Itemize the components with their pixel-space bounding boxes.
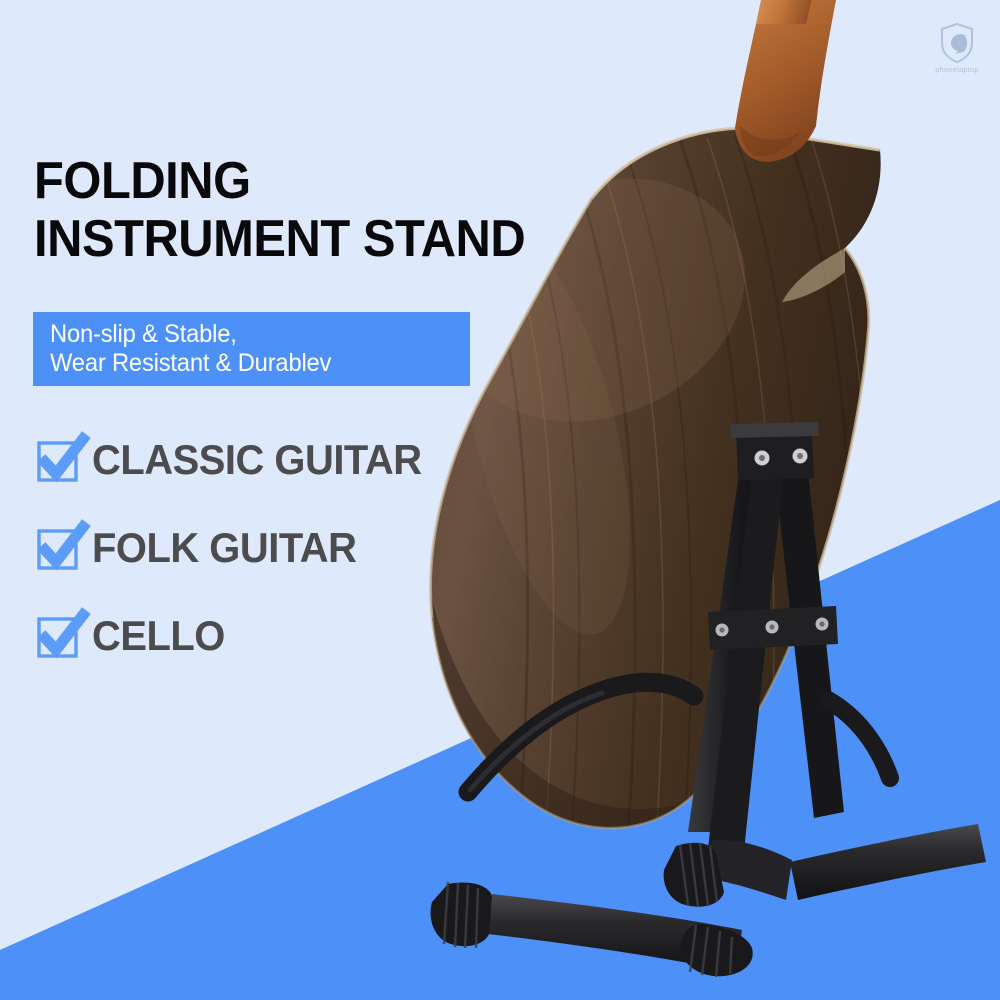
feature-list: CLASSIC GUITAR FOLK GUITAR CELLO (36, 430, 496, 694)
checkbox-checked-icon (36, 437, 82, 483)
subtitle-line-2: Wear Resistant & Durablev (50, 349, 449, 378)
checkbox-checked-icon (36, 525, 82, 571)
list-item: CLASSIC GUITAR (36, 430, 496, 490)
list-item-label: CLASSIC GUITAR (92, 438, 422, 482)
subtitle-banner: Non-slip & Stable, Wear Resistant & Dura… (33, 312, 470, 386)
brand-watermark: phonelaptop (922, 22, 992, 84)
page-title: FOLDING INSTRUMENT STAND (34, 152, 560, 268)
list-item: FOLK GUITAR (36, 518, 496, 578)
brand-name: phonelaptop (922, 65, 992, 74)
list-item: CELLO (36, 606, 496, 666)
subtitle-line-1: Non-slip & Stable, (50, 320, 449, 349)
checkbox-checked-icon (36, 613, 82, 659)
product-poster: phonelaptop FOLDING INSTRUMENT STAND Non… (0, 0, 1000, 1000)
shield-eagle-icon (939, 22, 975, 64)
list-item-label: FOLK GUITAR (92, 526, 356, 570)
list-item-label: CELLO (92, 614, 225, 658)
